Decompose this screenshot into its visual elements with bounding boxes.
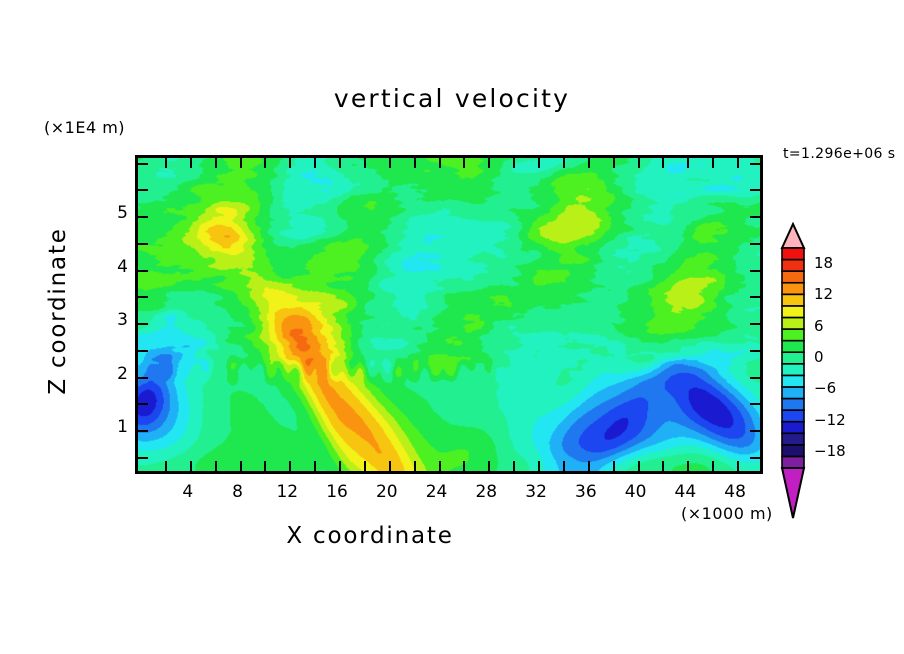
x-tick-top [339, 158, 341, 168]
colorbar-band [782, 317, 804, 329]
colorbar-band [782, 445, 804, 457]
x-tick-top [264, 158, 266, 168]
z-tick-label: 1 [88, 417, 128, 437]
colorbar-band [782, 329, 804, 341]
colorbar-band [782, 271, 804, 283]
z-tick [138, 457, 148, 459]
x-tick [588, 461, 590, 471]
colorbar-over-arrow [782, 224, 804, 248]
z-tick-right [750, 403, 760, 405]
time-annotation: t=1.296e+06 s [783, 146, 895, 162]
colorbar-band [782, 248, 804, 260]
x-tick-top [364, 158, 366, 168]
z-tick-label: 5 [88, 203, 128, 223]
colorbar-tick-label: −12 [814, 411, 846, 429]
x-tick-top [439, 158, 441, 168]
z-tick-right [750, 457, 760, 459]
x-tick [687, 461, 689, 471]
z-tick [138, 350, 148, 352]
x-tick-top [488, 158, 490, 168]
x-tick [638, 461, 640, 471]
x-tick [264, 461, 266, 471]
z-tick [138, 243, 148, 245]
z-tick [138, 270, 148, 272]
x-tick [737, 461, 739, 471]
x-tick-top [389, 158, 391, 168]
colorbar-band [782, 341, 804, 353]
z-tick [138, 189, 148, 191]
z-tick [138, 163, 148, 165]
z-tick-right [750, 189, 760, 191]
colorbar-tick-label: 0 [814, 348, 824, 366]
x-tick-top [712, 158, 714, 168]
colorbar-tick-label: 6 [814, 317, 824, 335]
colorbar-tick-label: 12 [814, 285, 833, 303]
colorbar-band [782, 456, 804, 468]
z-tick-right [750, 350, 760, 352]
z-tick-right [750, 377, 760, 379]
colorbar [778, 222, 808, 522]
z-tick [138, 296, 148, 298]
z-tick-right [750, 323, 760, 325]
colorbar-band [782, 387, 804, 399]
x-tick [364, 461, 366, 471]
z-tick-right [750, 296, 760, 298]
page-title: vertical velocity [0, 84, 904, 113]
z-tick-label: 3 [88, 310, 128, 330]
colorbar-band [782, 260, 804, 272]
x-tick [215, 461, 217, 471]
x-tick-top [613, 158, 615, 168]
x-tick [165, 461, 167, 471]
figure-root: vertical velocity (×1E4 m) t=1.296e+06 s… [0, 0, 904, 654]
colorbar-tick-label: −6 [814, 379, 836, 397]
colorbar-band [782, 422, 804, 434]
x-tick-top [289, 158, 291, 168]
x-tick-top [314, 158, 316, 168]
x-tick-top [662, 158, 664, 168]
x-tick [314, 461, 316, 471]
z-tick-right [750, 243, 760, 245]
colorbar-band [782, 294, 804, 306]
x-tick-top [538, 158, 540, 168]
colorbar-band [782, 306, 804, 318]
x-axis-title: X coordinate [0, 523, 740, 549]
x-tick [563, 461, 565, 471]
x-tick-top [240, 158, 242, 168]
x-tick [289, 461, 291, 471]
x-tick-top [687, 158, 689, 168]
x-tick-top [463, 158, 465, 168]
z-tick-right [750, 216, 760, 218]
vertical-velocity-field [138, 158, 760, 471]
colorbar-band [782, 364, 804, 376]
colorbar-band [782, 375, 804, 387]
x-tick-top [513, 158, 515, 168]
x-tick-top [414, 158, 416, 168]
x-tick [190, 461, 192, 471]
x-tick-top [165, 158, 167, 168]
z-tick-label: 4 [88, 257, 128, 277]
x-tick [389, 461, 391, 471]
y-axis-unit-label: (×1E4 m) [44, 118, 125, 137]
x-tick [513, 461, 515, 471]
x-tick [439, 461, 441, 471]
contour-plot-panel [135, 155, 763, 474]
colorbar-band [782, 433, 804, 445]
colorbar-band [782, 352, 804, 364]
x-tick [538, 461, 540, 471]
x-tick-top [215, 158, 217, 168]
x-tick-top [588, 158, 590, 168]
x-tick [613, 461, 615, 471]
z-tick [138, 216, 148, 218]
x-tick-top [563, 158, 565, 168]
z-tick-label: 2 [88, 364, 128, 384]
x-tick-top [638, 158, 640, 168]
x-tick [463, 461, 465, 471]
x-tick-top [737, 158, 739, 168]
colorbar-under-arrow [782, 468, 804, 518]
x-tick [488, 461, 490, 471]
x-tick [712, 461, 714, 471]
colorbar-swatches [778, 222, 808, 522]
colorbar-band [782, 283, 804, 295]
x-tick [339, 461, 341, 471]
z-tick-right [750, 430, 760, 432]
z-tick-right [750, 163, 760, 165]
colorbar-band [782, 410, 804, 422]
z-tick-right [750, 270, 760, 272]
z-tick [138, 377, 148, 379]
x-tick [240, 461, 242, 471]
x-tick [662, 461, 664, 471]
z-tick [138, 323, 148, 325]
x-tick-top [190, 158, 192, 168]
colorbar-tick-label: 18 [814, 254, 833, 272]
colorbar-band [782, 399, 804, 411]
z-tick [138, 403, 148, 405]
x-tick [414, 461, 416, 471]
colorbar-tick-label: −18 [814, 442, 846, 460]
z-tick [138, 430, 148, 432]
x-axis-unit-label: (×1000 m) [681, 504, 773, 523]
y-axis-title: Z coordinate [45, 191, 71, 431]
x-tick-label: 48 [705, 482, 765, 502]
